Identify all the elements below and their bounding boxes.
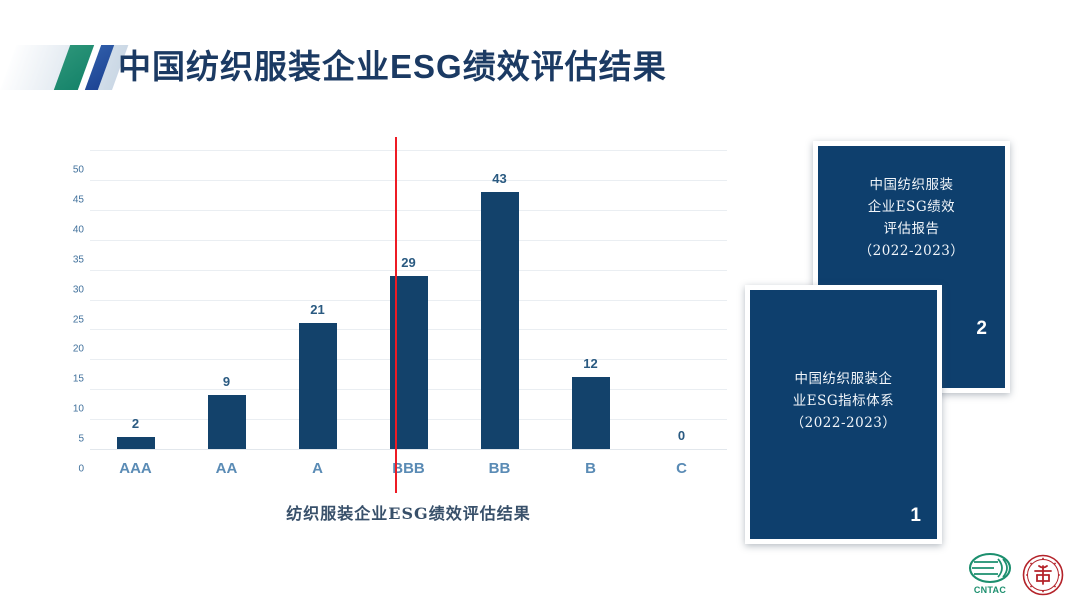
x-axis-tick-label: AA — [187, 460, 267, 477]
report-card-title-line: （2022-2023） — [832, 240, 991, 262]
x-axis-tick-label: AAA — [96, 460, 176, 477]
gridline — [90, 150, 727, 151]
bar — [208, 395, 246, 449]
y-axis: 50454035302520151050 — [58, 150, 84, 449]
y-axis-tick-label: 15 — [56, 374, 84, 385]
gridline — [90, 449, 727, 450]
x-axis-tick-label: BB — [460, 460, 540, 477]
y-axis-tick-label: 50 — [56, 165, 84, 176]
report-card-number: 2 — [976, 318, 987, 340]
report-card-title: 中国纺织服装企业ESG绩效评估报告（2022-2023） — [818, 174, 1005, 262]
bar — [299, 323, 337, 449]
x-axis-tick-label: C — [642, 460, 722, 477]
y-axis-tick-label: 30 — [56, 284, 84, 295]
gridline — [90, 270, 727, 271]
university-seal-icon — [1022, 554, 1064, 596]
bar-value-label: 12 — [561, 356, 621, 371]
slide-header: 中国纺织服装企业ESG绩效评估结果 — [0, 0, 1080, 120]
gridline — [90, 210, 727, 211]
bar-value-label: 21 — [288, 302, 348, 317]
bar-value-label: 2 — [106, 416, 166, 431]
report-card-title-line: （2022-2023） — [764, 412, 923, 434]
threshold-line — [395, 137, 397, 493]
bar — [481, 192, 519, 449]
y-axis-tick-label: 0 — [56, 464, 84, 475]
y-axis-tick-label: 40 — [56, 224, 84, 235]
report-card-title-line: 企业ESG绩效 — [832, 196, 991, 218]
report-card-title-line: 评估报告 — [832, 218, 991, 240]
bar-value-label: 43 — [470, 171, 530, 186]
report-card-title-line: 中国纺织服装企 — [764, 368, 923, 390]
gridline — [90, 180, 727, 181]
y-axis-tick-label: 45 — [56, 194, 84, 205]
bar-value-label: 29 — [379, 255, 439, 270]
bar — [117, 437, 155, 449]
report-card-esg-index-system[interactable]: 中国纺织服装企业ESG指标体系（2022-2023） 1 — [745, 285, 942, 544]
y-axis-tick-label: 35 — [56, 254, 84, 265]
cntac-label: CNTAC — [968, 585, 1012, 595]
report-card-title-line: 业ESG指标体系 — [764, 390, 923, 412]
x-axis-tick-label: B — [551, 460, 631, 477]
y-axis-tick-label: 25 — [56, 314, 84, 325]
gridline — [90, 240, 727, 241]
bar-value-label: 9 — [197, 374, 257, 389]
y-axis-tick-label: 10 — [56, 404, 84, 415]
report-card-title-line: 中国纺织服装 — [832, 174, 991, 196]
plot-area: 29212943120 AAAAAABBBBBBC — [90, 150, 727, 449]
footer-logos: CNTAC — [968, 552, 1068, 600]
chart-caption: 纺织服装企业ESG绩效评估结果 — [90, 500, 727, 524]
y-axis-tick-label: 20 — [56, 344, 84, 355]
y-axis-tick-label: 5 — [56, 434, 84, 445]
page-title: 中国纺织服装企业ESG绩效评估结果 — [118, 44, 667, 90]
x-axis-tick-label: A — [278, 460, 358, 477]
bar — [572, 377, 610, 449]
x-axis-tick-label: BBB — [369, 460, 449, 477]
bar-chart: 50454035302520151050 29212943120 AAAAAAB… — [58, 130, 738, 540]
report-card-number: 1 — [910, 505, 921, 527]
bar-value-label: 0 — [652, 428, 712, 443]
report-card-title: 中国纺织服装企业ESG指标体系（2022-2023） — [750, 368, 937, 434]
